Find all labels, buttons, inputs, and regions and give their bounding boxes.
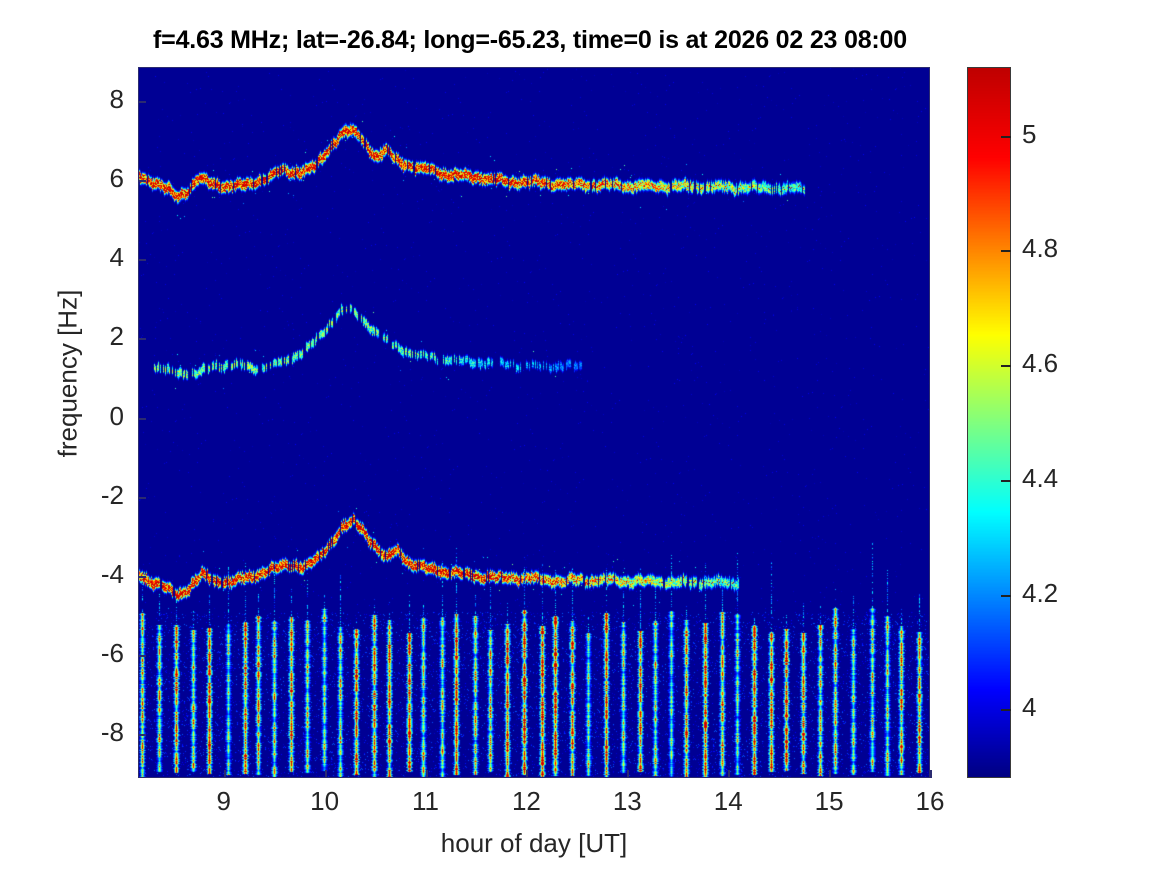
colorbar-tick-label: 5 [1022,119,1036,150]
y-tick-label: -4 [101,559,124,590]
y-tick-label: 6 [110,163,124,194]
y-axis-label: frequency [Hz] [53,244,84,504]
x-tick-label: 9 [194,786,254,817]
colorbar-tick-label: 4.2 [1022,578,1058,609]
colorbar-tick-label: 4 [1022,692,1036,723]
spectrogram-plot-area[interactable] [138,67,930,778]
x-tick-label: 10 [295,786,355,817]
colorbar-gradient [968,68,1011,778]
y-tick-label: -6 [101,638,124,669]
x-tick-label: 15 [799,786,859,817]
x-tick-label: 12 [496,786,556,817]
colorbar-tick-label: 4.4 [1022,463,1058,494]
x-tick-label: 13 [597,786,657,817]
spectrogram-image [138,67,930,778]
colorbar[interactable] [967,67,1011,778]
x-axis-label: hour of day [UT] [138,828,930,859]
y-tick-label: 8 [110,84,124,115]
y-tick-label: 0 [110,401,124,432]
y-tick-label: 2 [110,321,124,352]
figure-canvas: f=4.63 MHz; lat=-26.84; long=-65.23, tim… [0,0,1167,875]
y-tick-label: 4 [110,242,124,273]
colorbar-tick-mark [1001,595,1011,597]
colorbar-tick-mark [1001,709,1011,711]
x-tick-label: 14 [698,786,758,817]
x-tick-label: 16 [900,786,960,817]
colorbar-tick-mark [1001,250,1011,252]
plot-title: f=4.63 MHz; lat=-26.84; long=-65.23, tim… [0,26,1060,55]
x-tick-label: 11 [396,786,456,817]
y-tick-label: -8 [101,717,124,748]
colorbar-tick-mark [1001,136,1011,138]
y-tick-label: -2 [101,480,124,511]
colorbar-tick-label: 4.6 [1022,348,1058,379]
colorbar-tick-label: 4.8 [1022,233,1058,264]
x-tick-mark [930,770,932,778]
colorbar-tick-mark [1001,365,1011,367]
colorbar-tick-mark [1001,480,1011,482]
